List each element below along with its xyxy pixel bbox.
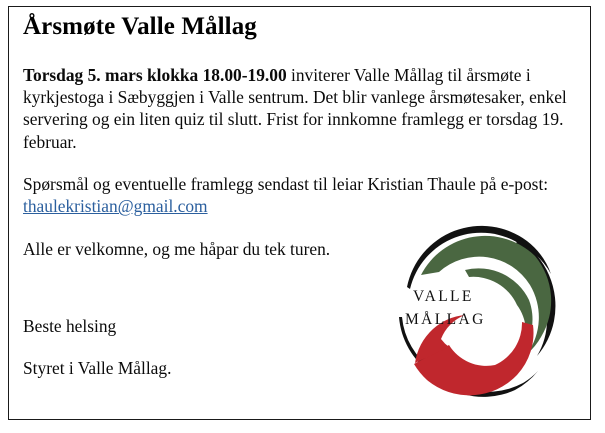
contact-intro-text: Spørsmål og eventuelle framlegg sendast …	[23, 174, 548, 194]
logo-wordmark-line-1: VALLE	[413, 288, 474, 305]
paragraph-invitation: Torsdag 5. mars klokka 18.00-19.00 invit…	[23, 64, 590, 153]
document-border-frame: Årsmøte Valle Mållag Torsdag 5. mars klo…	[8, 6, 591, 420]
event-datetime-text: Torsdag 5. mars klokka 18.00-19.00	[23, 65, 287, 85]
email-link[interactable]: thaulekristian@gmail.com	[23, 196, 208, 216]
paragraph-contact: Spørsmål og eventuelle framlegg sendast …	[23, 173, 590, 218]
logo-wordmark-line-2: MÅLLAG	[405, 311, 486, 328]
page-title: Årsmøte Valle Mållag	[23, 12, 580, 42]
valle-mallag-logo-graphic: VALLE MÅLLAG	[391, 225, 591, 400]
valle-mallag-logo: VALLE MÅLLAG	[391, 225, 591, 400]
